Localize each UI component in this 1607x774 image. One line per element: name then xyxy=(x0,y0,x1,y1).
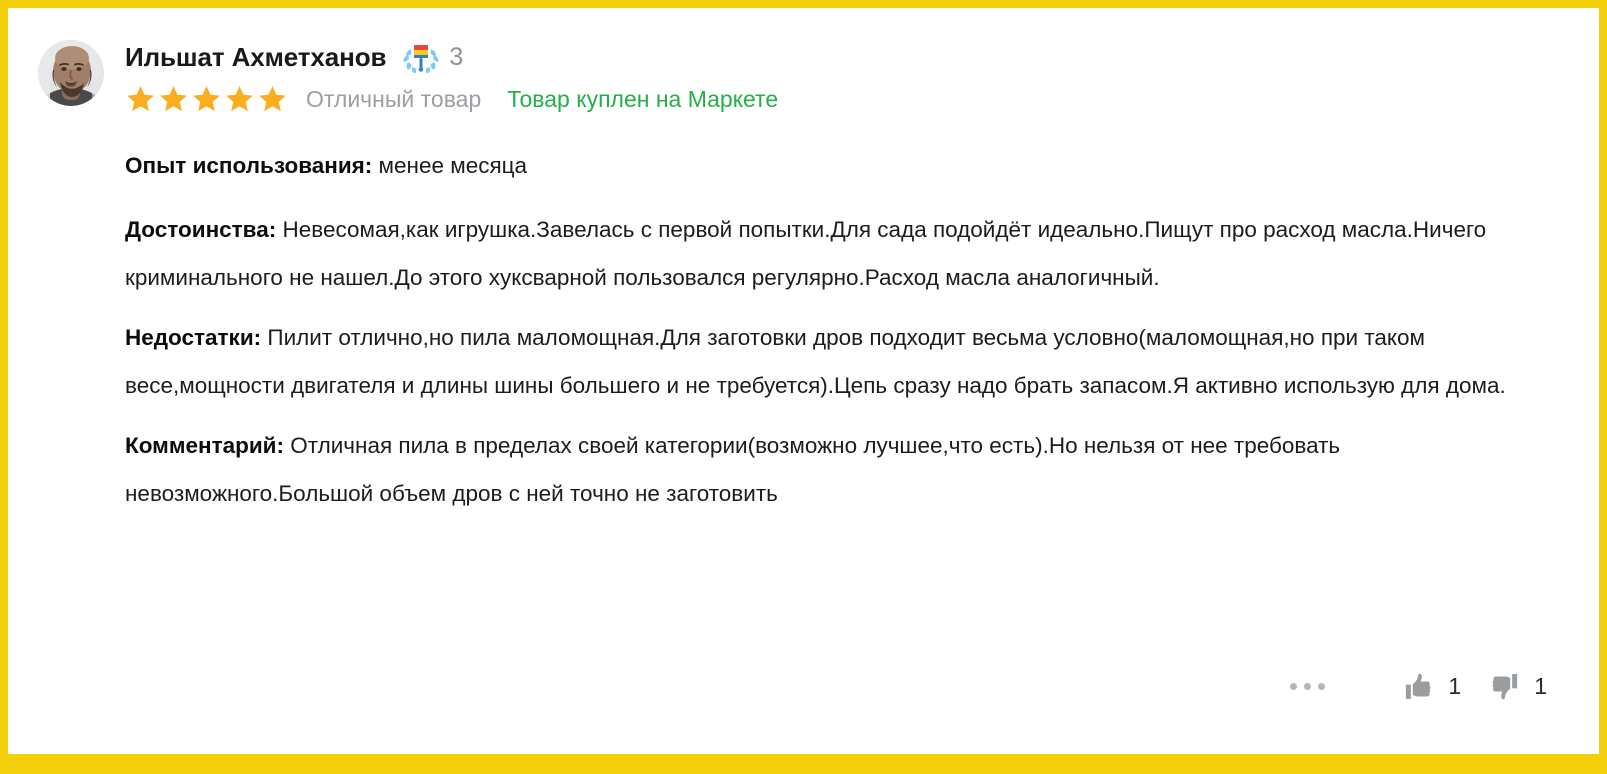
like-count: 1 xyxy=(1448,673,1461,700)
review-section-cons: Недостатки: Пилит отлично,но пила маломо… xyxy=(125,314,1569,410)
star-icon xyxy=(257,84,288,114)
author-row: Ильшат Ахметханов xyxy=(125,38,1569,76)
dislike-count: 1 xyxy=(1534,673,1547,700)
section-label: Опыт использования: xyxy=(125,153,372,178)
author-name[interactable]: Ильшат Ахметханов xyxy=(125,42,386,73)
review-section-usage: Опыт использования: менее месяца xyxy=(125,142,1569,190)
section-label: Достоинства: xyxy=(125,217,276,242)
badge-count: 3 xyxy=(449,43,463,72)
section-text: Невесомая,как игрушка.Завелась с первой … xyxy=(125,217,1486,290)
author-badge[interactable]: 3 xyxy=(402,41,463,73)
review-header-main: Ильшат Ахметханов xyxy=(125,38,1569,116)
section-text: Отличная пила в пределах своей категории… xyxy=(125,433,1340,506)
section-text: менее месяца xyxy=(379,153,528,178)
avatar[interactable] xyxy=(38,40,104,106)
laurel-brush-badge-icon xyxy=(402,41,440,73)
avatar-photo xyxy=(38,40,104,106)
more-horizontal-icon[interactable] xyxy=(1276,675,1339,698)
thumbs-up-icon xyxy=(1403,671,1434,702)
like-button[interactable]: 1 xyxy=(1403,671,1461,702)
review-body: Опыт использования: менее месяца Достоин… xyxy=(125,142,1569,518)
star-icon xyxy=(158,84,189,114)
dislike-button[interactable]: 1 xyxy=(1489,671,1547,702)
section-label: Комментарий: xyxy=(125,433,284,458)
thumbs-down-icon xyxy=(1489,671,1520,702)
star-icon xyxy=(191,84,222,114)
more-dot xyxy=(1290,683,1297,690)
star-icon xyxy=(224,84,255,114)
star-rating xyxy=(125,84,288,114)
purchase-flag[interactable]: Товар куплен на Маркете xyxy=(507,86,778,113)
star-icon xyxy=(125,84,156,114)
review-section-comment: Комментарий: Отличная пила в пределах св… xyxy=(125,422,1569,518)
review-footer: 1 1 xyxy=(1276,671,1547,702)
review-screen: Ильшат Ахметханов xyxy=(0,0,1607,774)
more-dot xyxy=(1304,683,1311,690)
section-label: Недостатки: xyxy=(125,325,261,350)
rating-row: Отличный товар Товар куплен на Маркете xyxy=(125,82,1569,116)
section-text: Пилит отлично,но пила маломощная.Для заг… xyxy=(125,325,1506,398)
review-section-pros: Достоинства: Невесомая,как игрушка.Завел… xyxy=(125,206,1569,302)
review-card: Ильшат Ахметханов xyxy=(8,8,1599,754)
review-header: Ильшат Ахметханов xyxy=(38,38,1569,116)
more-dot xyxy=(1318,683,1325,690)
rating-label: Отличный товар xyxy=(306,86,481,113)
